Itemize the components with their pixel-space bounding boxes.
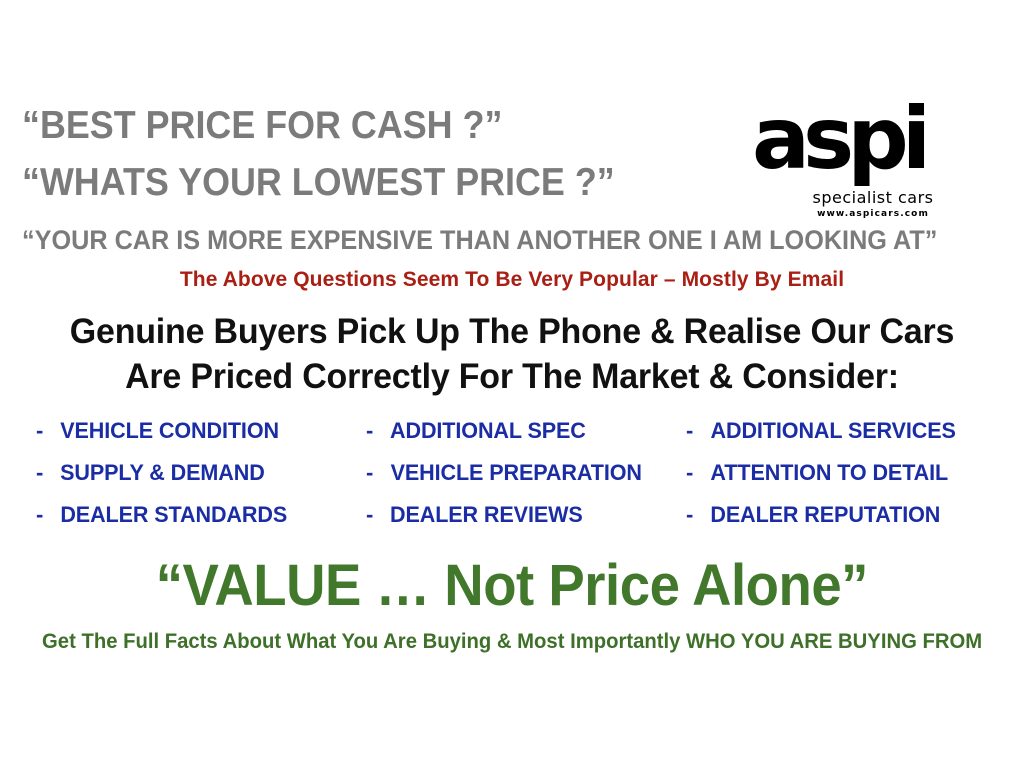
list-item: - VEHICLE PREPARATION — [366, 460, 686, 502]
logo-tagline: specialist cars — [788, 190, 958, 207]
value-slogan-text: “VALUE … Not Price Alone” — [156, 552, 868, 619]
list-dash-icon: - — [366, 460, 388, 486]
list-item: - DEALER STANDARDS — [36, 502, 366, 544]
main-headline: Genuine Buyers Pick Up The Phone & Reali… — [0, 310, 1024, 400]
considerations-list: - VEHICLE CONDITION - SUPPLY & DEMAND - … — [0, 418, 1024, 543]
red-subheading: The Above Questions Seem To Be Very Popu… — [0, 268, 1024, 292]
customer-quote-3: “YOUR CAR IS MORE EXPENSIVE THAN ANOTHER… — [22, 225, 937, 256]
list-item: - DEALER REVIEWS — [366, 502, 686, 544]
list-item-label: SUPPLY & DEMAND — [60, 460, 265, 486]
considerations-column-1: - VEHICLE CONDITION - SUPPLY & DEMAND - … — [36, 418, 366, 544]
list-dash-icon: - — [366, 418, 388, 444]
list-item: - ADDITIONAL SERVICES — [686, 418, 1006, 460]
list-item: - ADDITIONAL SPEC — [366, 418, 686, 460]
footer-tagline: Get The Full Facts About What You Are Bu… — [0, 630, 1024, 654]
list-dash-icon: - — [686, 502, 708, 528]
list-dash-icon: - — [36, 502, 58, 528]
logo-website-url: www.aspicars.com — [788, 209, 958, 219]
customer-quote-2: “WHATS YOUR LOWEST PRICE ?” — [22, 161, 615, 205]
list-item-label: ADDITIONAL SERVICES — [711, 418, 956, 444]
slide-canvas: aspi specialist cars www.aspicars.com “B… — [0, 0, 1024, 768]
list-item-label: VEHICLE CONDITION — [60, 418, 279, 444]
list-item-label: ADDITIONAL SPEC — [390, 418, 586, 444]
list-item-label: ATTENTION TO DETAIL — [710, 460, 948, 486]
list-item-label: VEHICLE PREPARATION — [391, 460, 642, 486]
considerations-column-2: - ADDITIONAL SPEC - VEHICLE PREPARATION … — [366, 418, 686, 544]
list-item-label: DEALER STANDARDS — [60, 502, 287, 528]
customer-quote-1: “BEST PRICE FOR CASH ?” — [22, 104, 502, 148]
logo-ellipse-shape — [770, 108, 918, 182]
list-item: - ATTENTION TO DETAIL — [686, 460, 1006, 502]
logo-wordmark-group: aspi — [752, 104, 962, 188]
list-dash-icon: - — [36, 418, 58, 444]
headline-line-2: Are Priced Correctly For The Market & Co… — [15, 355, 1008, 400]
list-dash-icon: - — [366, 502, 388, 528]
footer-tagline-text: Get The Full Facts About What You Are Bu… — [42, 630, 982, 654]
list-item-label: DEALER REPUTATION — [710, 502, 940, 528]
considerations-column-3: - ADDITIONAL SERVICES - ATTENTION TO DET… — [686, 418, 1006, 544]
list-item: - SUPPLY & DEMAND — [36, 460, 366, 502]
list-item-label: DEALER REVIEWS — [390, 502, 583, 528]
list-dash-icon: - — [686, 418, 708, 444]
list-item: - DEALER REPUTATION — [686, 502, 1006, 544]
value-slogan: “VALUE … Not Price Alone” — [0, 552, 1024, 619]
list-dash-icon: - — [686, 460, 708, 486]
aspi-logo: aspi specialist cars www.aspicars.com — [752, 104, 962, 226]
list-item: - VEHICLE CONDITION — [36, 418, 366, 460]
list-dash-icon: - — [36, 460, 58, 486]
headline-line-1: Genuine Buyers Pick Up The Phone & Reali… — [15, 310, 1008, 355]
